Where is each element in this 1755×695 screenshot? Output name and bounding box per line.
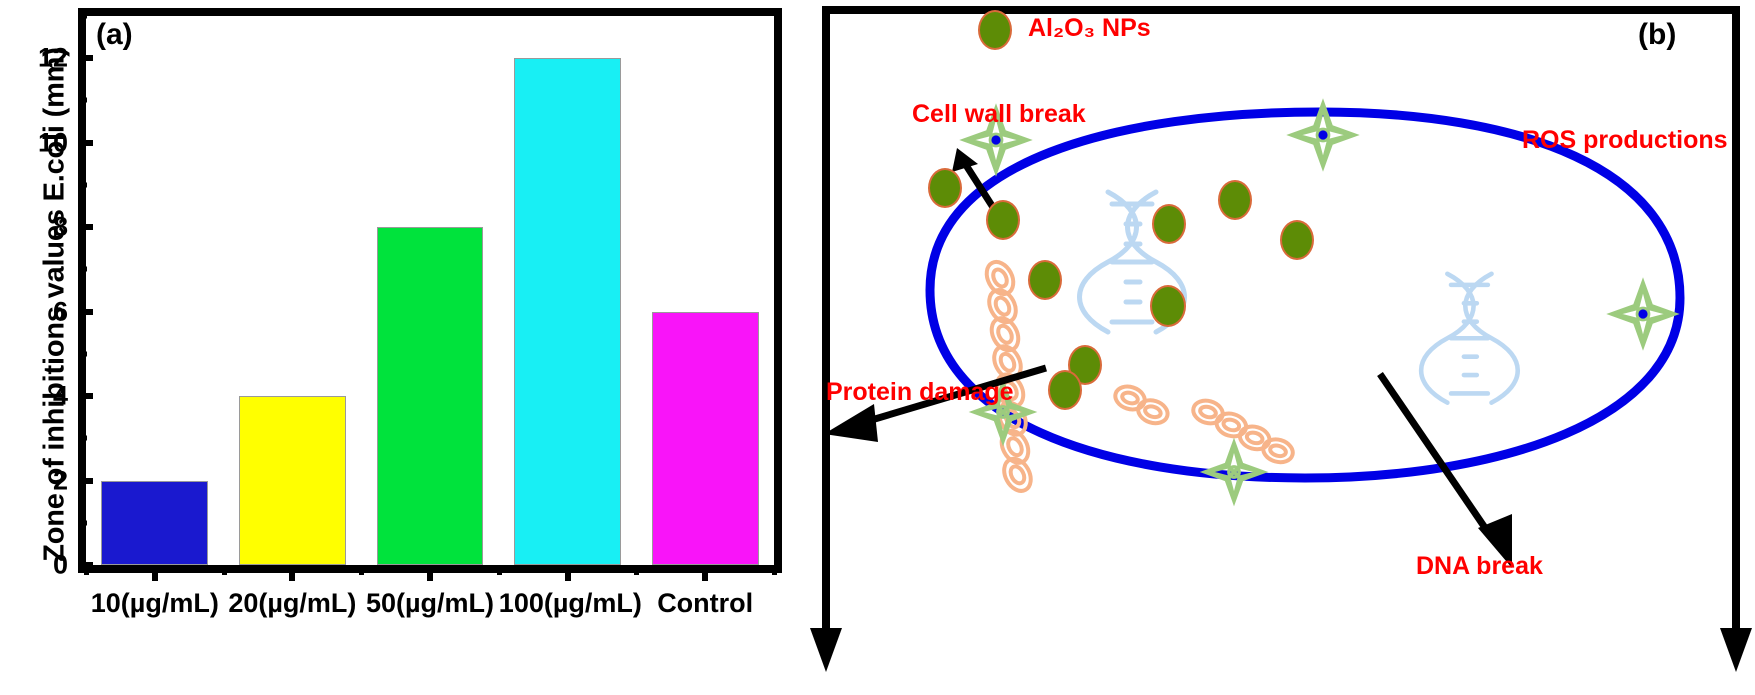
- y-tick-label: 12: [22, 45, 68, 72]
- y-tick-label: 10: [22, 129, 68, 156]
- y-tick-label: 6: [22, 298, 68, 325]
- x-tick-major: [289, 566, 295, 581]
- x-tick-minor: [222, 566, 227, 575]
- panel-b-schematic: (b): [800, 0, 1755, 695]
- np-dot-icon: [1218, 180, 1252, 220]
- y-tick-label: 8: [22, 214, 68, 241]
- bar-2: [239, 396, 346, 565]
- ros-star-icon: [1205, 443, 1263, 501]
- x-tick-major: [152, 566, 158, 581]
- bar-3: [377, 227, 484, 565]
- bar-4: [514, 58, 621, 565]
- y-tick-major: [78, 55, 93, 61]
- x-tick-major: [702, 566, 708, 581]
- x-tick-label: 100(µg/mL): [499, 588, 637, 619]
- np-dot-icon: [1048, 370, 1082, 410]
- x-tick-minor: [634, 566, 639, 575]
- annotation-protein-damage: Protein damage: [826, 378, 1014, 407]
- y-tick-minor: [78, 520, 87, 525]
- panel-a-tag: (a): [96, 18, 133, 52]
- y-tick-minor: [78, 182, 87, 187]
- y-tick-minor: [78, 98, 87, 103]
- np-dot-icon: [1028, 260, 1062, 300]
- x-tick-label: 10(µg/mL): [86, 588, 224, 619]
- x-tick-label: 20(µg/mL): [224, 588, 362, 619]
- y-tick-major: [78, 224, 93, 230]
- ros-star-icon: [1612, 283, 1675, 346]
- annotation-ros-productions: ROS productions: [1522, 126, 1728, 155]
- np-dot-icon: [986, 200, 1020, 240]
- y-tick-minor: [78, 351, 87, 356]
- x-tick-minor: [497, 566, 502, 575]
- y-tick-label: 0: [22, 552, 68, 579]
- x-tick-label: Control: [636, 588, 774, 619]
- x-tick-label: 50(µg/mL): [361, 588, 499, 619]
- y-tick-minor: [78, 14, 87, 19]
- bar-5: [652, 312, 759, 565]
- y-tick-major: [78, 309, 93, 315]
- x-tick-major: [427, 566, 433, 581]
- bar-1: [101, 481, 208, 565]
- x-tick-minor: [84, 566, 89, 575]
- np-dot-icon: [978, 10, 1012, 50]
- figure-root: Zone of inhibitions values E.coli (mm) (…: [0, 0, 1755, 695]
- np-dot-icon: [1152, 204, 1186, 244]
- y-tick-major: [78, 393, 93, 399]
- panel-a-bar-chart: Zone of inhibitions values E.coli (mm) (…: [0, 0, 800, 695]
- np-dot-icon: [928, 168, 962, 208]
- annotation-cell-wall-break: Cell wall break: [912, 100, 1086, 129]
- np-dot-icon: [1150, 285, 1186, 327]
- x-tick-minor: [359, 566, 364, 575]
- y-tick-minor: [78, 267, 87, 272]
- y-tick-label: 4: [22, 383, 68, 410]
- legend-label-al2o3-nps: Al₂O₃ NPs: [1028, 14, 1151, 43]
- x-tick-major: [565, 566, 571, 581]
- y-tick-major: [78, 140, 93, 146]
- protein-chain-icon: [1110, 383, 1172, 427]
- x-tick-minor: [772, 566, 777, 575]
- annotation-dna-break: DNA break: [1416, 552, 1543, 581]
- y-tick-label: 2: [22, 467, 68, 494]
- protein-chain-icon: [1186, 397, 1301, 465]
- y-tick-minor: [78, 436, 87, 441]
- dna-helix-icon: [1421, 274, 1518, 403]
- y-tick-major: [78, 478, 93, 484]
- np-dot-icon: [1280, 220, 1314, 260]
